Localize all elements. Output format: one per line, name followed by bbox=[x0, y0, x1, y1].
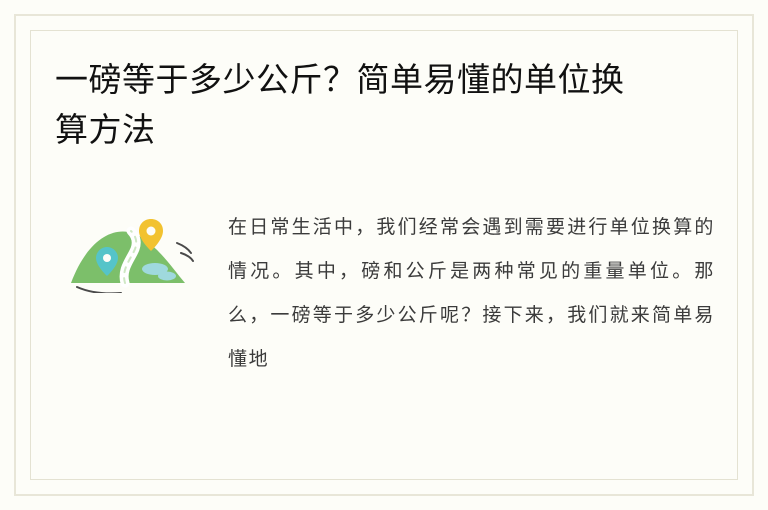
article-body: 在日常生活中，我们经常会遇到需要进行单位换算的情况。其中，磅和公斤是两种常见的重… bbox=[55, 205, 715, 381]
page-title: 一磅等于多少公斤？简单易懂的单位换算方法 bbox=[55, 55, 655, 155]
map-location-illustration-icon bbox=[55, 213, 200, 293]
article-card: 一磅等于多少公斤？简单易懂的单位换算方法 bbox=[0, 0, 768, 510]
article-content: 一磅等于多少公斤？简单易懂的单位换算方法 bbox=[55, 55, 715, 455]
article-paragraph: 在日常生活中，我们经常会遇到需要进行单位换算的情况。其中，磅和公斤是两种常见的重… bbox=[228, 205, 715, 381]
